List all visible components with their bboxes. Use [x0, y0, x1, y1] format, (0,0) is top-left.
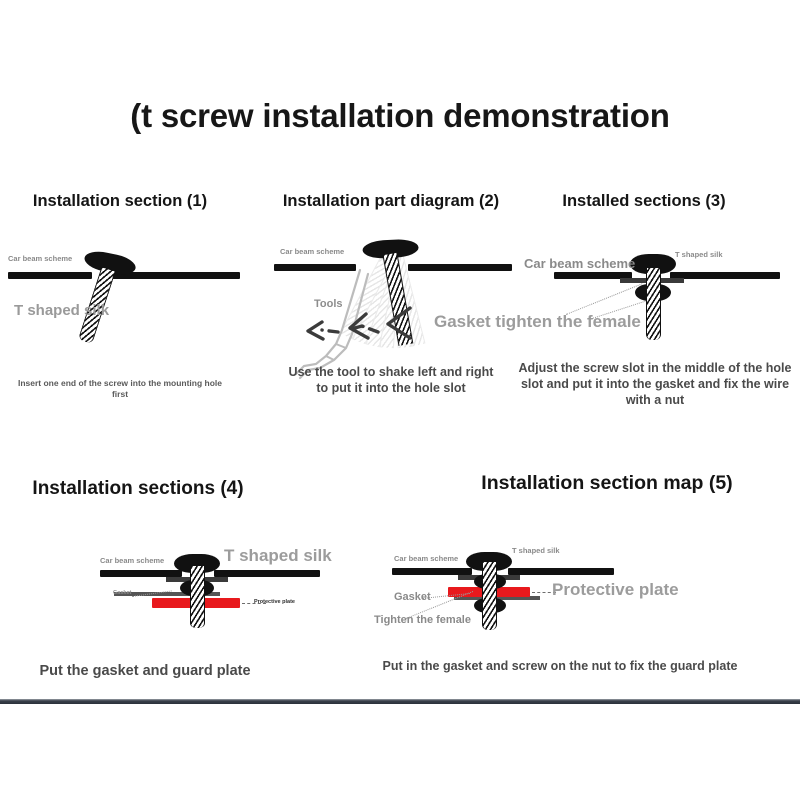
panel-3-caption: Adjust the screw slot in the middle of t…: [510, 360, 800, 408]
label-car-beam-scheme: Car beam scheme: [100, 556, 164, 565]
panel-4-figure: Car beam scheme T shaped silk Gasket Pro…: [0, 478, 400, 688]
label-car-beam-scheme: Car beam scheme: [524, 256, 635, 271]
screw-shank: [646, 268, 661, 340]
panel-5-caption: Put in the gasket and screw on the nut t…: [362, 658, 758, 674]
label-t-shaped-silk: T shaped silk: [675, 250, 723, 259]
bottom-frame-divider: [0, 699, 800, 704]
panel-installation-part-diagram-2: Installation part diagram (2): [262, 192, 520, 417]
label-protective-plate: Protective plate: [254, 599, 295, 605]
label-t-shaped-silk: T shaped silk: [14, 302, 109, 319]
diagram-page: (t screw installation demonstration Inst…: [0, 0, 800, 800]
car-beam-right: [670, 272, 780, 279]
car-beam-left: [392, 568, 472, 575]
label-t-shaped-silk: T shaped silk: [512, 546, 560, 555]
panel-installation-section-1: Installation section (1) Car beam scheme…: [0, 192, 240, 407]
car-beam-right: [214, 570, 320, 577]
panel-1-figure: Car beam scheme T shaped silk: [0, 192, 240, 407]
label-car-beam-scheme: Car beam scheme: [394, 554, 458, 563]
label-tools: Tools: [314, 298, 343, 310]
shake-arrow-icon: [292, 304, 420, 344]
panel-installation-sections-4: Installation sections (4) Car beam schem…: [0, 478, 400, 688]
panel-5-figure: Car beam scheme T shaped silk Gasket Tig…: [362, 472, 800, 688]
car-beam-right: [112, 272, 240, 279]
label-protective-plate: Protective plate: [552, 580, 679, 600]
screw-shank: [190, 566, 205, 628]
label-gasket: Gasket: [113, 590, 131, 596]
car-beam-left: [100, 570, 182, 577]
label-car-beam-scheme: Car beam scheme: [280, 247, 344, 256]
car-beam-right: [508, 568, 614, 575]
gasket-leader-line: [566, 283, 642, 315]
panel-installed-sections-3: Installed sections (3) Car beam scheme T…: [510, 192, 800, 417]
label-car-beam-scheme: Car beam scheme: [8, 254, 72, 263]
panel-installation-section-map-5: Installation section map (5) Car beam sc…: [362, 472, 800, 688]
nut-leader-line: [592, 301, 646, 319]
label-gasket: Gasket: [394, 591, 431, 603]
car-beam-left: [8, 272, 92, 279]
screw-shank: [482, 562, 497, 630]
label-tighten-the-female: Tighten the female: [374, 614, 471, 626]
panel-2-caption: Use the tool to shake left and right to …: [262, 364, 520, 396]
panel-4-caption: Put the gasket and guard plate: [0, 662, 290, 681]
page-title: (t screw installation demonstration: [0, 97, 800, 135]
panel-1-caption: Insert one end of the screw into the mou…: [0, 378, 240, 400]
label-t-shaped-silk: T shaped silk: [224, 546, 332, 566]
